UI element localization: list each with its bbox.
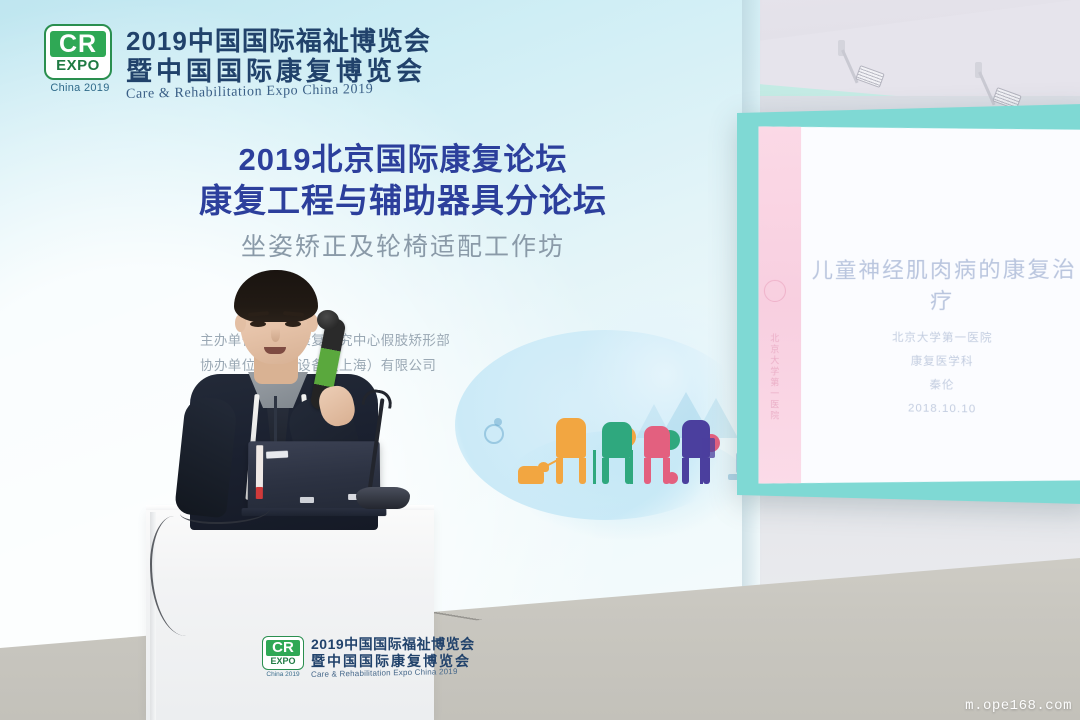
podium-logo-expo-text: EXPO — [270, 656, 295, 666]
forum-title-block: 2019北京国际康复论坛 康复工程与辅助器具分论坛 坐姿矫正及轮椅适配工作坊 — [188, 140, 618, 266]
cr-expo-logo-expo-text: EXPO — [56, 57, 100, 74]
crutch-left-icon — [593, 450, 596, 484]
pictogram-legs — [556, 458, 586, 484]
podium-logo: CR EXPO China 2019 2019中国国际福祉博览会 暨中国国际康复… — [262, 636, 475, 679]
forum-title-line-2: 康复工程与辅助器具分论坛 — [188, 180, 618, 222]
pictogram-leg-1 — [644, 458, 651, 484]
cr-expo-logo-subtitle: China 2019 — [44, 82, 116, 94]
pictogram-leg-1 — [556, 458, 563, 484]
cr-expo-logo-cr-text: CR — [50, 31, 106, 57]
podium-cr-expo-logo: CR EXPO China 2019 — [262, 636, 304, 678]
pictogram-leg-1 — [602, 458, 609, 484]
pictogram-body — [556, 418, 586, 458]
speaker-mouth — [264, 347, 286, 354]
wheelchair-icon — [484, 424, 504, 444]
backdrop-header-text: 2019中国国际福祉博览会 暨中国国际康复博览会 Care & Rehabili… — [126, 26, 431, 103]
slide-side-hospital-name: 北京大学第一医院 — [768, 334, 781, 423]
accessibility-pictogram-group — [500, 392, 730, 484]
projected-slide: 北京大学第一医院 儿童神经肌肉病的康复治疗 北京大学第一医院康复医学科秦伦201… — [749, 119, 1080, 492]
pictogram-legs — [682, 458, 710, 484]
pictogram-body — [644, 426, 670, 458]
podium-line-1: 2019中国国际福祉博览会 — [311, 636, 475, 653]
watermark: m.ope168.com — [965, 698, 1072, 714]
pictogram-body — [602, 422, 632, 458]
pictogram-legs — [602, 458, 632, 484]
bag-icon — [702, 438, 715, 458]
slide-title: 儿童神经肌肉病的康复治疗 — [804, 253, 1080, 316]
laptop-sticker-1 — [266, 451, 288, 459]
speaker-eye-left — [250, 321, 266, 327]
presentation-photo: CR EXPO China 2019 2019中国国际福祉博览会 暨中国国际康复… — [0, 0, 1080, 720]
cr-expo-logo-box: CR EXPO — [44, 24, 112, 80]
microphone-base — [356, 487, 410, 509]
pictogram-leg-2 — [579, 458, 586, 484]
slide-date: 2018.10.10 — [804, 396, 1080, 424]
podium-logo-subtitle: China 2019 — [262, 671, 304, 678]
podium-logo-text: 2019中国国际福祉博览会 暨中国国际康复博览会 Care & Rehabili… — [311, 636, 475, 679]
crutch-right-icon — [630, 450, 633, 484]
forum-title-line-1: 2019北京国际康复论坛 — [188, 140, 618, 180]
header-line-1: 2019中国国际福祉博览会 — [126, 26, 431, 56]
speaker-eye-right — [285, 321, 301, 327]
slide-line-2: 康复医学科 — [804, 350, 1080, 376]
cr-expo-logo: CR EXPO China 2019 — [44, 24, 116, 94]
slide-author-block: 北京大学第一医院康复医学科秦伦2018.10.10 — [804, 327, 1080, 424]
podium-logo-box: CR EXPO — [262, 636, 304, 670]
slide-side-bar: 北京大学第一医院 — [749, 125, 801, 484]
laptop-sticker-2 — [256, 445, 263, 489]
ball-icon — [666, 472, 678, 484]
laptop-badge-2 — [300, 497, 314, 503]
podium-logo-cr-text: CR — [266, 640, 300, 656]
wheelchair-person-icon — [494, 418, 502, 426]
slide-line-1: 北京大学第一医院 — [804, 327, 1080, 352]
hospital-logo-icon — [764, 280, 786, 302]
pictogram-leg-2 — [703, 458, 710, 484]
speaker-hair — [234, 270, 318, 322]
slide-line-3: 秦伦 — [804, 373, 1080, 400]
backdrop-header-logo: CR EXPO China 2019 2019中国国际福祉博览会 暨中国国际康复… — [44, 24, 431, 103]
speaker-nose — [271, 328, 280, 342]
pictogram-leg-1 — [682, 458, 689, 484]
figure-orange-with-guide-dog — [552, 416, 590, 484]
workshop-subtitle: 坐姿矫正及轮椅适配工作坊 — [188, 228, 618, 266]
projection-screen: 北京大学第一医院 儿童神经肌肉病的康复治疗 北京大学第一医院康复医学科秦伦201… — [737, 104, 1080, 505]
